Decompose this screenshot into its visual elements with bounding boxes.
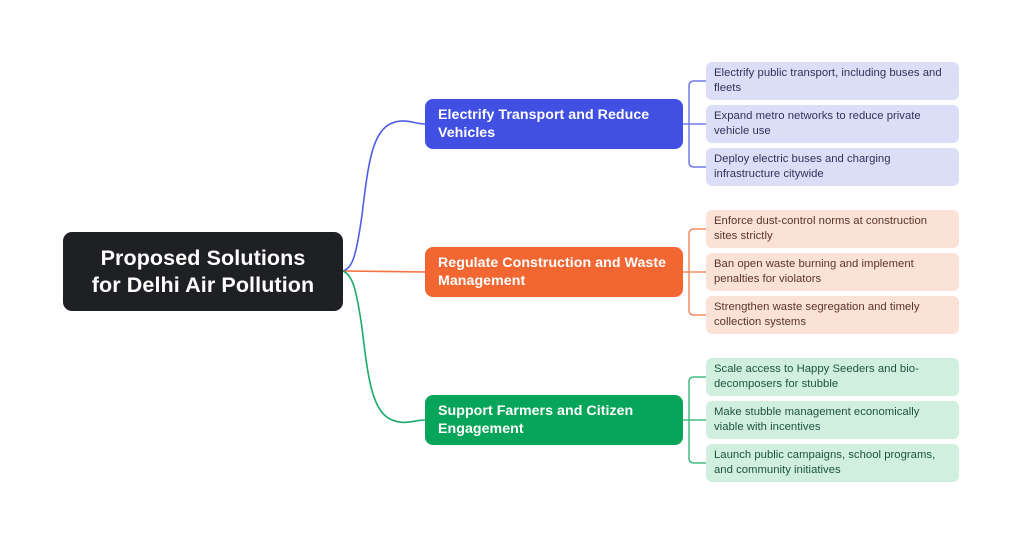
branch-2-leaf-bracket — [683, 377, 706, 463]
leaf-node[interactable]: Deploy electric buses and charging infra… — [706, 148, 959, 186]
branch-node-label: Regulate Construction and Waste Manageme… — [438, 254, 670, 290]
branch-node-support-farmers[interactable]: Support Farmers and Citizen Engagement — [425, 395, 683, 445]
leaf-node[interactable]: Expand metro networks to reduce private … — [706, 105, 959, 143]
leaf-node[interactable]: Ban open waste burning and implement pen… — [706, 253, 959, 291]
leaf-node-label: Electrify public transport, including bu… — [714, 66, 951, 96]
leaf-node[interactable]: Electrify public transport, including bu… — [706, 62, 959, 100]
root-node[interactable]: Proposed Solutions for Delhi Air Polluti… — [63, 232, 343, 311]
leaf-node-label: Expand metro networks to reduce private … — [714, 109, 951, 139]
branch-1-leaf-bracket — [683, 229, 706, 315]
leaf-node[interactable]: Scale access to Happy Seeders and bio-de… — [706, 358, 959, 396]
leaf-node-label: Strengthen waste segregation and timely … — [714, 300, 951, 330]
root-to-branch-2-connector — [343, 271, 425, 422]
branch-node-electrify-transport[interactable]: Electrify Transport and Reduce Vehicles — [425, 99, 683, 149]
leaf-node[interactable]: Make stubble management economically via… — [706, 401, 959, 439]
leaf-node-label: Make stubble management economically via… — [714, 405, 951, 435]
leaf-node-label: Ban open waste burning and implement pen… — [714, 257, 951, 287]
mind-map-canvas: Proposed Solutions for Delhi Air Polluti… — [0, 0, 1024, 545]
leaf-node[interactable]: Strengthen waste segregation and timely … — [706, 296, 959, 334]
root-node-label: Proposed Solutions for Delhi Air Polluti… — [92, 245, 314, 297]
branch-node-regulate-construction[interactable]: Regulate Construction and Waste Manageme… — [425, 247, 683, 297]
leaf-node-label: Enforce dust-control norms at constructi… — [714, 214, 951, 244]
branch-node-label: Support Farmers and Citizen Engagement — [438, 402, 670, 438]
branch-node-label: Electrify Transport and Reduce Vehicles — [438, 106, 670, 142]
root-to-branch-0-connector — [343, 121, 425, 271]
branch-0-leaf-bracket — [683, 81, 706, 167]
leaf-node-label: Scale access to Happy Seeders and bio-de… — [714, 362, 951, 392]
root-to-branch-1-connector — [343, 271, 425, 272]
leaf-node[interactable]: Enforce dust-control norms at constructi… — [706, 210, 959, 248]
leaf-node-label: Launch public campaigns, school programs… — [714, 448, 951, 478]
leaf-node[interactable]: Launch public campaigns, school programs… — [706, 444, 959, 482]
leaf-node-label: Deploy electric buses and charging infra… — [714, 152, 951, 182]
